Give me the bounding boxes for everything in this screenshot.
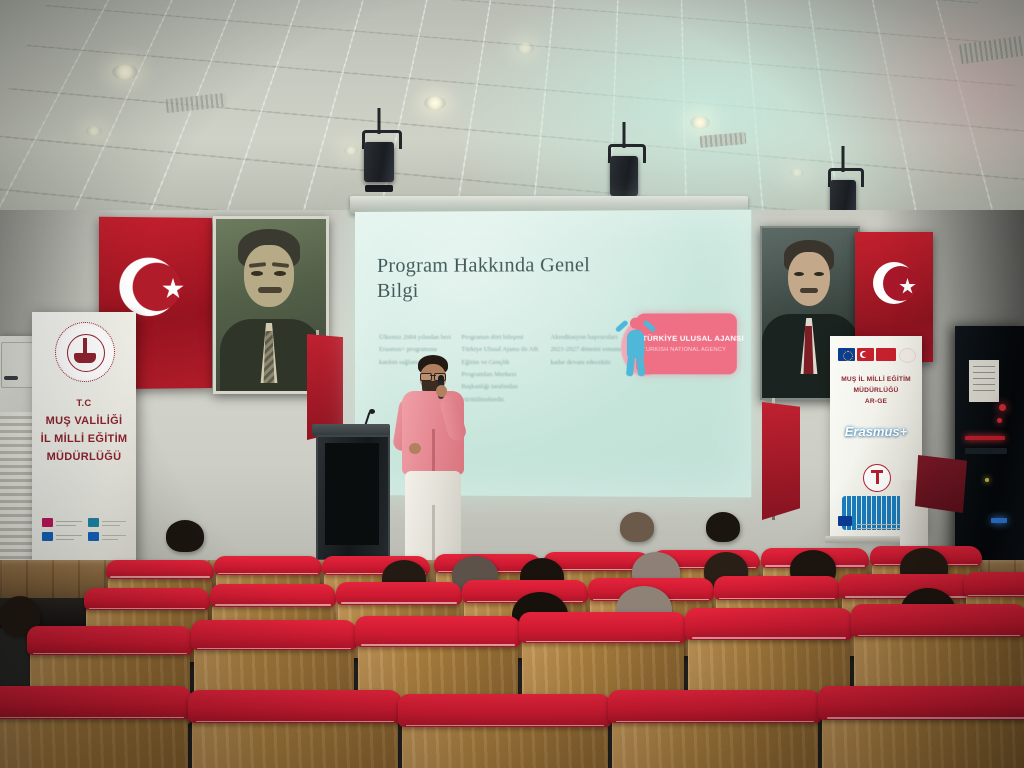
banner-right-line1: MUŞ İL MİLLİ EĞİTİM bbox=[830, 374, 922, 385]
national-agency-icon bbox=[899, 348, 916, 363]
banner-right-text: MUŞ İL MİLLİ EĞİTİM MÜDÜRLÜĞÜ AR-GE bbox=[830, 374, 922, 408]
stage-spotlight bbox=[362, 108, 396, 188]
ministry-seal-icon bbox=[55, 322, 115, 382]
rack-slot bbox=[965, 448, 1007, 454]
auditorium-seat[interactable] bbox=[0, 686, 188, 768]
erasmus-logo: Erasmus+ bbox=[836, 416, 916, 450]
turkish-flag-icon bbox=[857, 348, 874, 361]
downlight-icon bbox=[344, 146, 358, 155]
banner-ministry-of-education: T.C MUŞ VALİLİĞİ İL MİLLİ EĞİTİM MÜDÜRLÜ… bbox=[32, 312, 136, 574]
auditorium-seat[interactable] bbox=[822, 686, 1024, 768]
banner-left-line2: MUŞ VALİLİĞİ bbox=[32, 412, 136, 430]
audience-head bbox=[166, 520, 204, 552]
eu-footer-flag-icon bbox=[838, 516, 852, 526]
auditorium-seat[interactable] bbox=[192, 690, 398, 768]
standing-turkish-flag bbox=[762, 402, 800, 520]
red-table-cloth bbox=[915, 455, 967, 513]
auditorium-seat[interactable] bbox=[612, 690, 818, 768]
downlight-icon bbox=[112, 64, 138, 80]
banner-right-logo-row bbox=[838, 348, 914, 364]
presenter bbox=[396, 355, 470, 567]
stage-spotlight bbox=[608, 122, 640, 202]
banner-left-text: T.C MUŞ VALİLİĞİ İL MİLLİ EĞİTİM MÜDÜRLÜ… bbox=[32, 396, 136, 466]
auditorium-photo: Program Hakkında Genel Bilgi Ülkemiz 200… bbox=[0, 0, 1024, 768]
downlight-icon bbox=[86, 126, 102, 136]
rack-led-red bbox=[997, 418, 1002, 423]
banner-left-line1: T.C bbox=[32, 396, 136, 412]
lectern-podium bbox=[312, 424, 390, 566]
banner-left-line4: MÜDÜRLÜĞÜ bbox=[32, 448, 136, 466]
rack-led-bar bbox=[965, 436, 1005, 440]
banner-left-footer-logos bbox=[42, 518, 126, 552]
rack-led-amber bbox=[985, 478, 989, 482]
human-figure-icon bbox=[616, 318, 657, 377]
audience-head bbox=[706, 512, 740, 542]
downlight-icon bbox=[424, 96, 446, 110]
turkish-national-agency-logo: TÜRKİYE ULUSAL AJANSI TURKISH NATIONAL A… bbox=[593, 307, 737, 380]
audience-head bbox=[620, 512, 654, 542]
banner-right-line3: AR-GE bbox=[830, 396, 922, 407]
downlight-icon bbox=[690, 116, 710, 129]
erasmus-logo-text: Erasmus+ bbox=[836, 424, 916, 439]
downlight-icon bbox=[516, 42, 534, 54]
rack-led-red bbox=[999, 404, 1006, 411]
rack-led-blue bbox=[991, 518, 1007, 523]
rack-notice-paper bbox=[969, 360, 999, 402]
ministry-logo-icon bbox=[876, 348, 896, 361]
eu-footer-text-line bbox=[856, 524, 904, 526]
banner-left-line3: İL MİLLİ EĞİTİM bbox=[32, 430, 136, 448]
downlight-icon bbox=[790, 168, 804, 177]
eu-flag-icon bbox=[838, 348, 855, 361]
auditorium-seat[interactable] bbox=[402, 694, 608, 768]
slide-title: Program Hakkında Genel Bilgi bbox=[377, 253, 630, 304]
slide-body-column-2: Programın dört bileşeni Türkiye Ulusal A… bbox=[461, 332, 540, 407]
banner-right-line2: MÜDÜRLÜĞÜ bbox=[830, 385, 922, 396]
institution-seal-icon bbox=[863, 464, 891, 492]
